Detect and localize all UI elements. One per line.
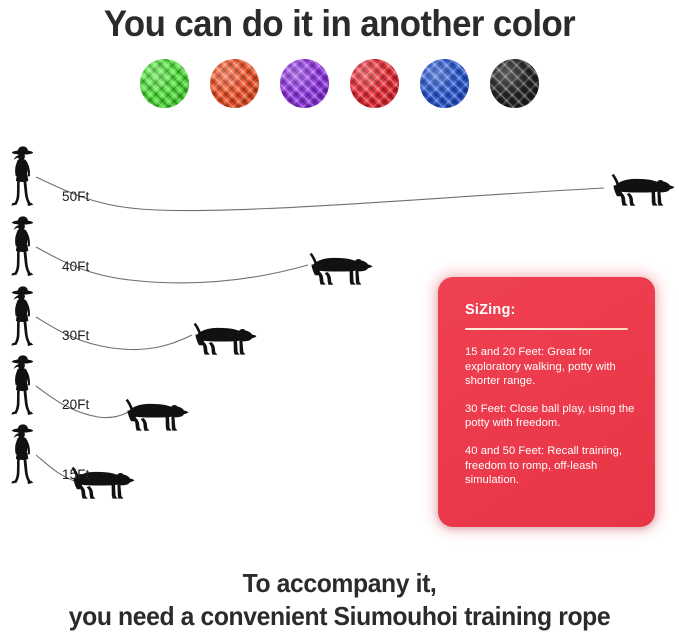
sizing-card-divider bbox=[465, 328, 628, 330]
leash-line bbox=[36, 317, 192, 350]
footer-tagline: To accompany it, you need a convenient S… bbox=[0, 567, 679, 633]
color-swatch-orange[interactable] bbox=[210, 59, 259, 108]
length-label-15ft: 15Ft bbox=[62, 467, 89, 482]
swatch-gloss bbox=[280, 59, 329, 108]
swatch-gloss bbox=[140, 59, 189, 108]
leash-row-15ft bbox=[11, 424, 134, 498]
leash-row-40ft bbox=[11, 216, 372, 284]
length-label-50ft: 50Ft bbox=[62, 189, 89, 204]
page-title: You can do it in another color bbox=[20, 2, 658, 46]
sizing-paragraph-short: 15 and 20 Feet: Great for exploratory wa… bbox=[465, 345, 637, 389]
person-silhouette bbox=[11, 355, 33, 415]
leash-row-50ft bbox=[11, 146, 674, 210]
leash-row-30ft bbox=[11, 286, 256, 354]
swatch-gloss bbox=[420, 59, 469, 108]
person-silhouette bbox=[11, 146, 33, 206]
color-swatch-black[interactable] bbox=[490, 59, 539, 108]
dog-silhouette bbox=[310, 253, 373, 285]
leash-row-20ft bbox=[11, 355, 188, 430]
swatch-gloss bbox=[350, 59, 399, 108]
swatch-gloss bbox=[210, 59, 259, 108]
dog-silhouette bbox=[194, 323, 257, 355]
color-swatch-green[interactable] bbox=[140, 59, 189, 108]
footer-line-2: you need a convenient Siumouhoi training… bbox=[17, 600, 662, 633]
color-swatch-purple[interactable] bbox=[280, 59, 329, 108]
color-swatch-blue[interactable] bbox=[420, 59, 469, 108]
color-swatch-red[interactable] bbox=[350, 59, 399, 108]
length-label-40ft: 40Ft bbox=[62, 259, 89, 274]
person-silhouette bbox=[11, 424, 33, 484]
dog-silhouette bbox=[126, 399, 189, 431]
person-silhouette bbox=[11, 216, 33, 276]
dog-silhouette bbox=[612, 174, 675, 206]
sizing-paragraph-mid: 30 Feet: Close ball play, using the pott… bbox=[465, 402, 637, 431]
color-swatch-row bbox=[0, 59, 679, 108]
length-label-30ft: 30Ft bbox=[62, 328, 89, 343]
length-label-20ft: 20Ft bbox=[62, 397, 89, 412]
person-silhouette bbox=[11, 286, 33, 346]
sizing-paragraph-long: 40 and 50 Feet: Recall training, freedom… bbox=[465, 444, 637, 488]
swatch-gloss bbox=[490, 59, 539, 108]
sizing-card-title: SiZing: bbox=[465, 302, 516, 318]
sizing-info-card: SiZing: 15 and 20 Feet: Great for explor… bbox=[438, 277, 655, 527]
leash-line bbox=[36, 177, 604, 211]
sizing-card-body: 15 and 20 Feet: Great for exploratory wa… bbox=[465, 345, 637, 488]
footer-line-1: To accompany it, bbox=[17, 567, 662, 600]
